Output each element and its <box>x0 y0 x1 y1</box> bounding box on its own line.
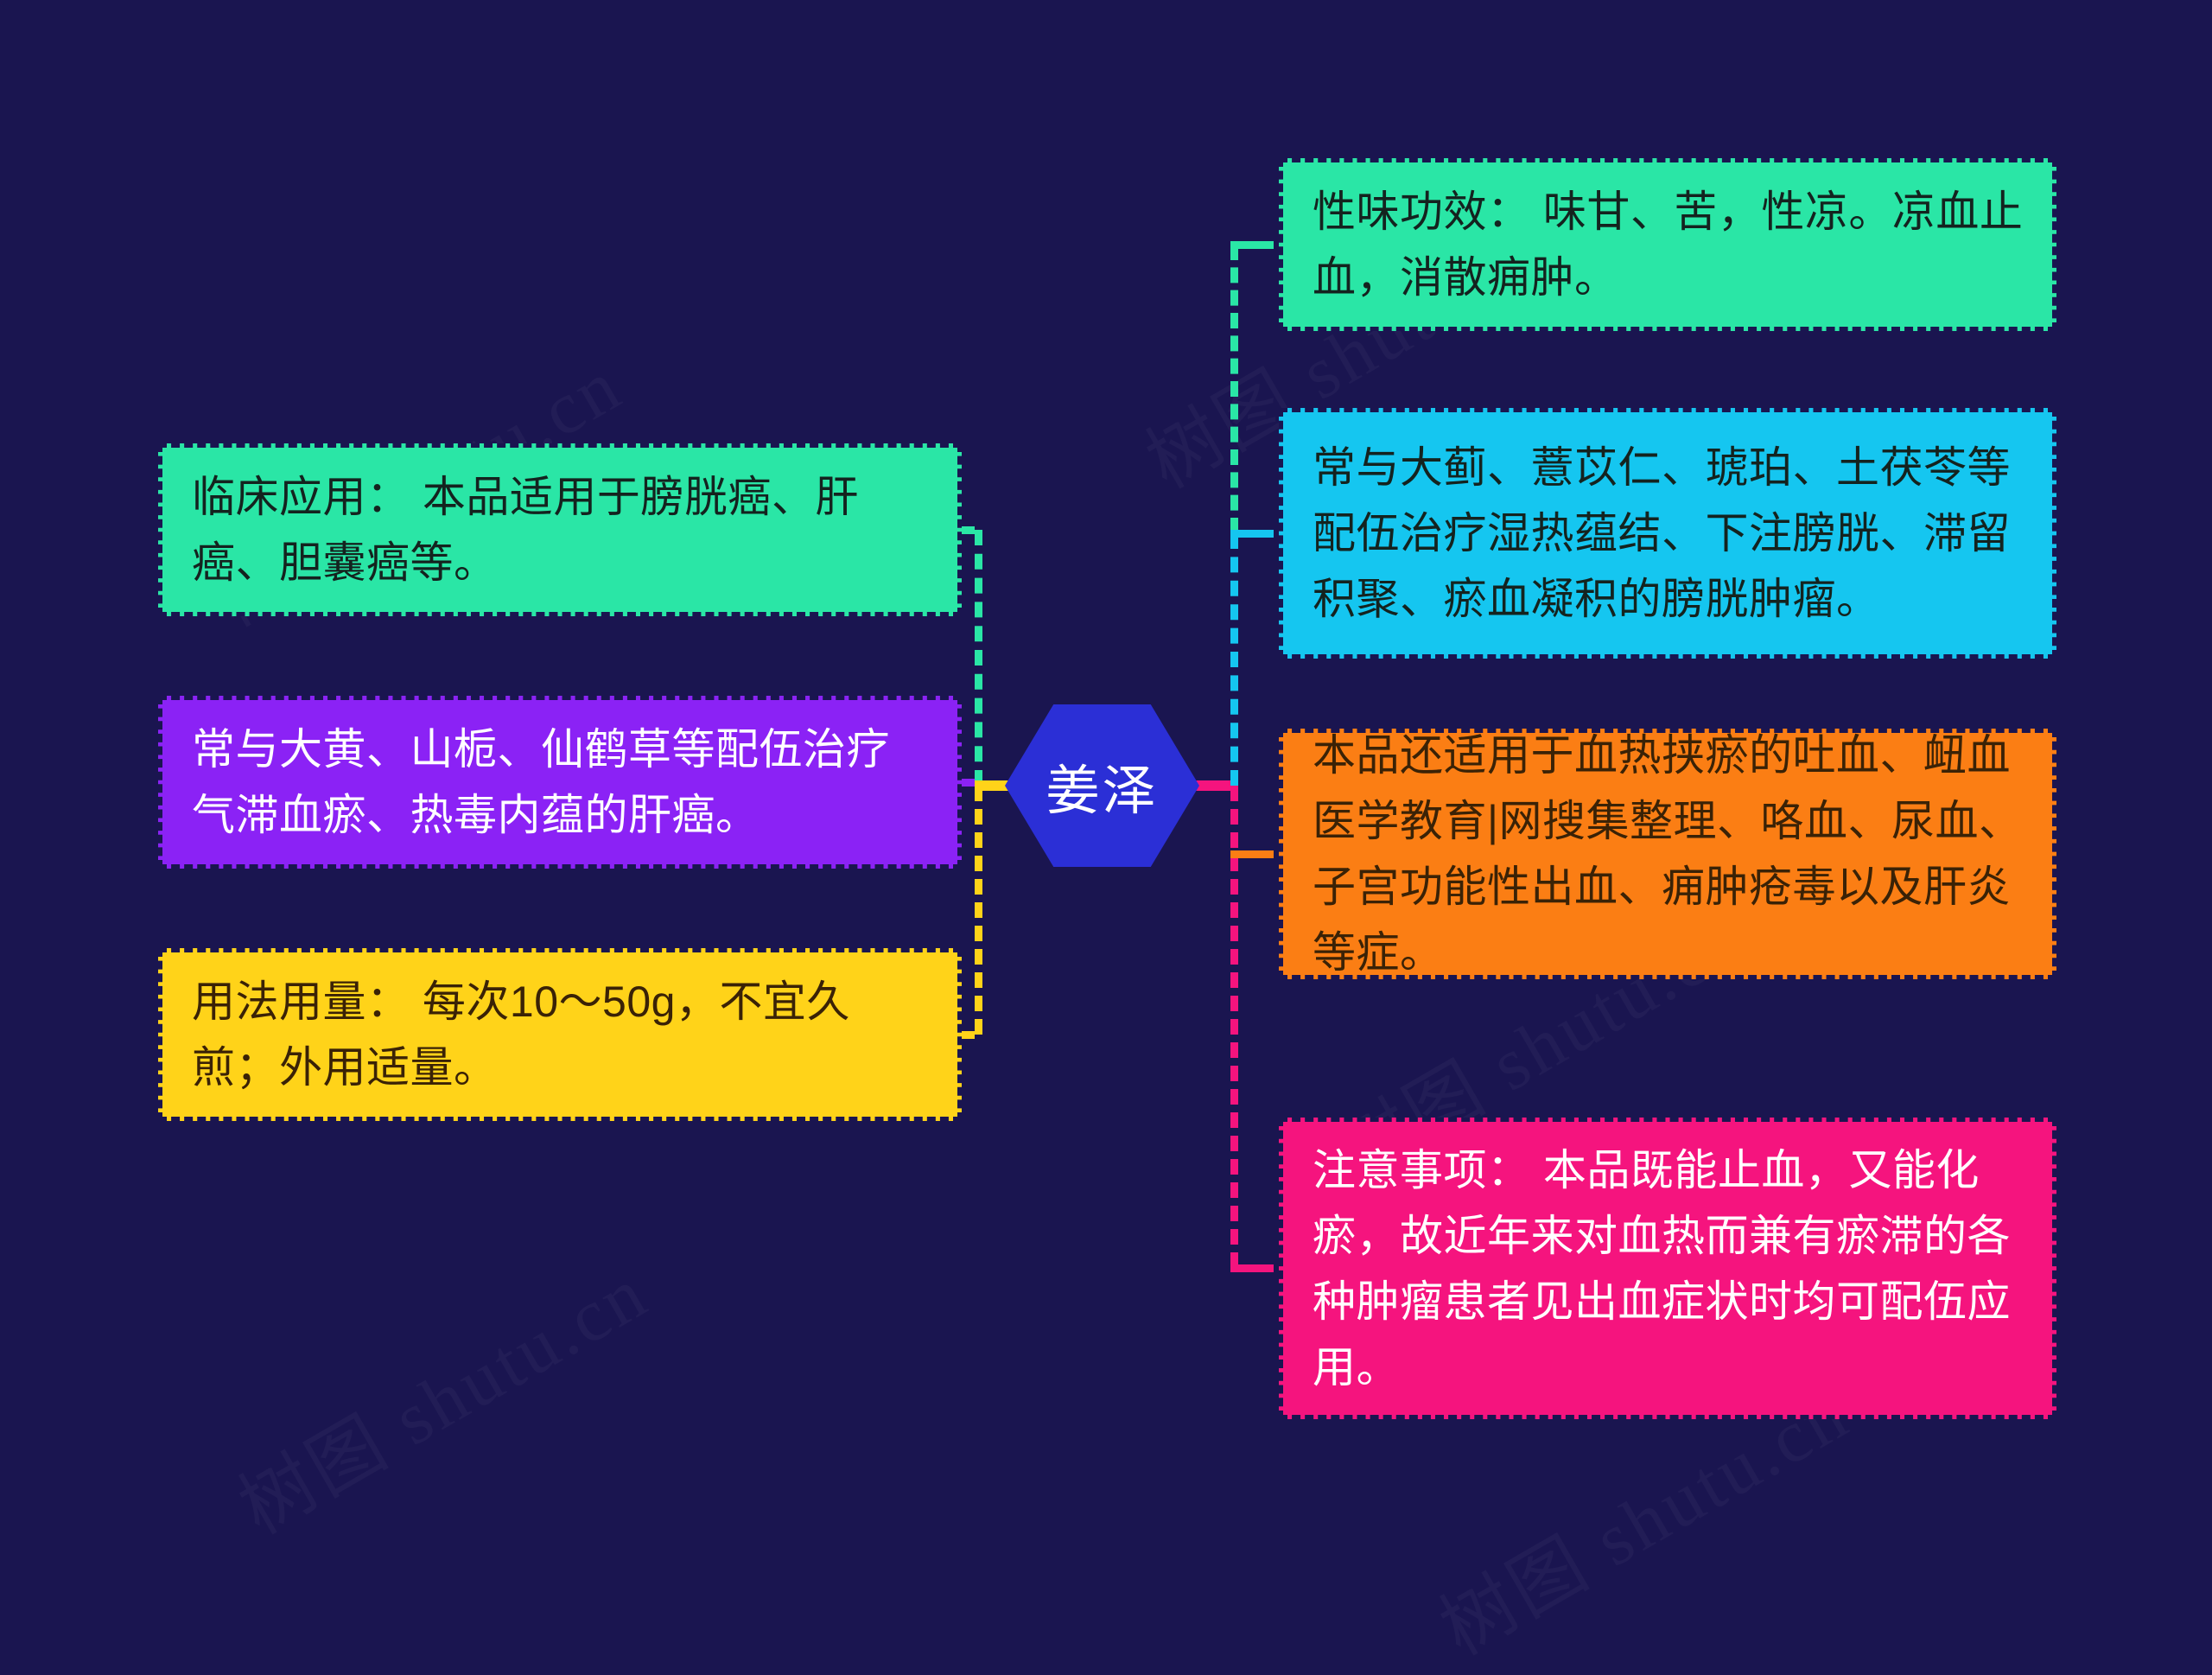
mindmap-canvas: 树图 shutu.cn 树图 shutu.cn 树图 shutu.cn 树图 s… <box>0 0 2212 1564</box>
connector-right-stub-precautions <box>1230 1264 1274 1272</box>
connector-left-spine-lower <box>975 786 982 1035</box>
connector-right-spine-lower <box>1230 786 1238 1268</box>
node-bladder-tumor-formula[interactable]: 常与大蓟、薏苡仁、琥珀、土茯苓等配伍治疗湿热蕴结、下注膀胱、滞留积聚、瘀血凝积的… <box>1279 408 2056 659</box>
node-precautions-text: 注意事项： 本品既能止血，又能化瘀，故近年来对血热而兼有瘀滞的各种肿瘤患者见出血… <box>1313 1137 2026 1400</box>
node-liver-cancer-formula-text: 常与大黄、山栀、仙鹤草等配伍治疗气滞血瘀、热毒内蕴的肝癌。 <box>192 716 931 848</box>
central-node-label: 姜泽 <box>1046 747 1158 825</box>
connector-right-spine-middle <box>1230 533 1238 786</box>
watermark: 树图 shutu.cn <box>216 1233 664 1555</box>
node-nature-flavor-effect[interactable]: 性味功效： 味甘、苦，性凉。凉血止血，消散痈肿。 <box>1279 158 2056 331</box>
node-dosage-text: 用法用量： 每次10～50g，不宜久煎；外用适量。 <box>192 969 931 1100</box>
connector-right-stub-nature <box>1230 241 1274 249</box>
node-liver-cancer-formula[interactable]: 常与大黄、山栀、仙鹤草等配伍治疗气滞血瘀、热毒内蕴的肝癌。 <box>158 696 962 869</box>
node-dosage[interactable]: 用法用量： 每次10～50g，不宜久煎；外用适量。 <box>158 948 962 1121</box>
connector-right-stub-indications <box>1230 850 1274 858</box>
node-precautions[interactable]: 注意事项： 本品既能止血，又能化瘀，故近年来对血热而兼有瘀滞的各种肿瘤患者见出血… <box>1279 1118 2056 1419</box>
connector-left-spine-upper <box>975 530 982 786</box>
node-other-indications-text: 本品还适用于血热挟瘀的吐血、衄血医学教育|网搜集整理、咯血、尿血、子宫功能性出血… <box>1313 723 2026 985</box>
node-bladder-tumor-formula-text: 常与大蓟、薏苡仁、琥珀、土茯苓等配伍治疗湿热蕴结、下注膀胱、滞留积聚、瘀血凝积的… <box>1313 435 2026 632</box>
node-nature-flavor-effect-text: 性味功效： 味甘、苦，性凉。凉血止血，消散痈肿。 <box>1313 179 2026 310</box>
node-other-indications[interactable]: 本品还适用于血热挟瘀的吐血、衄血医学教育|网搜集整理、咯血、尿血、子宫功能性出血… <box>1279 729 2056 979</box>
node-clinical-application[interactable]: 临床应用： 本品适用于膀胱癌、肝癌、胆囊癌等。 <box>158 443 962 616</box>
central-node-jiangze[interactable]: 姜泽 <box>1005 704 1199 867</box>
node-clinical-application-text: 临床应用： 本品适用于膀胱癌、肝癌、胆囊癌等。 <box>192 464 931 595</box>
connector-right-spine-upper <box>1230 245 1238 533</box>
connector-right-stub-bladder <box>1230 530 1274 538</box>
